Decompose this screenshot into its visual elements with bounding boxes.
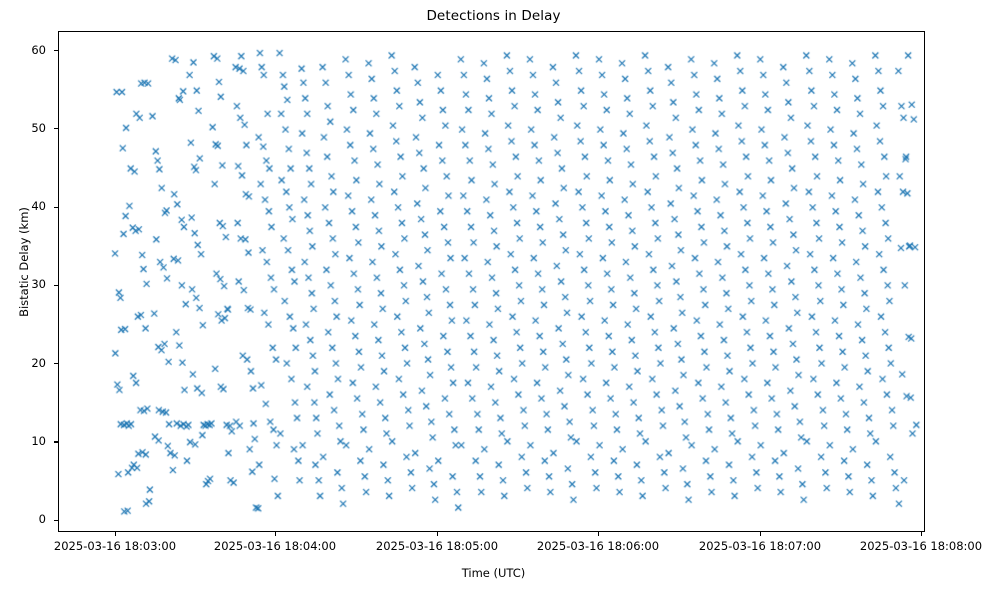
y-tick-label: 20 — [6, 356, 46, 370]
y-tick-label: 50 — [6, 121, 46, 135]
x-axis-label: Time (UTC) — [0, 566, 987, 580]
x-tick-mark — [437, 532, 438, 536]
plot-area — [58, 31, 925, 532]
matplotlib-figure: Detections in Delay Bistatic Delay (km) … — [0, 0, 987, 590]
x-tick-mark — [921, 532, 922, 536]
y-tick-label: 60 — [6, 43, 46, 57]
y-tick-label: 10 — [6, 434, 46, 448]
x-tick-label: 2025-03-16 18:08:00 — [811, 539, 987, 553]
x-tick-mark — [760, 532, 761, 536]
y-tick-label: 30 — [6, 277, 46, 291]
y-axis-label: Bistatic Delay (km) — [17, 152, 31, 372]
x-tick-mark — [115, 532, 116, 536]
x-tick-mark — [598, 532, 599, 536]
chart-title: Detections in Delay — [0, 8, 987, 24]
y-tick-label: 0 — [6, 512, 46, 526]
x-tick-mark — [275, 532, 276, 536]
y-tick-label: 40 — [6, 199, 46, 213]
scatter-points-layer — [59, 32, 924, 531]
